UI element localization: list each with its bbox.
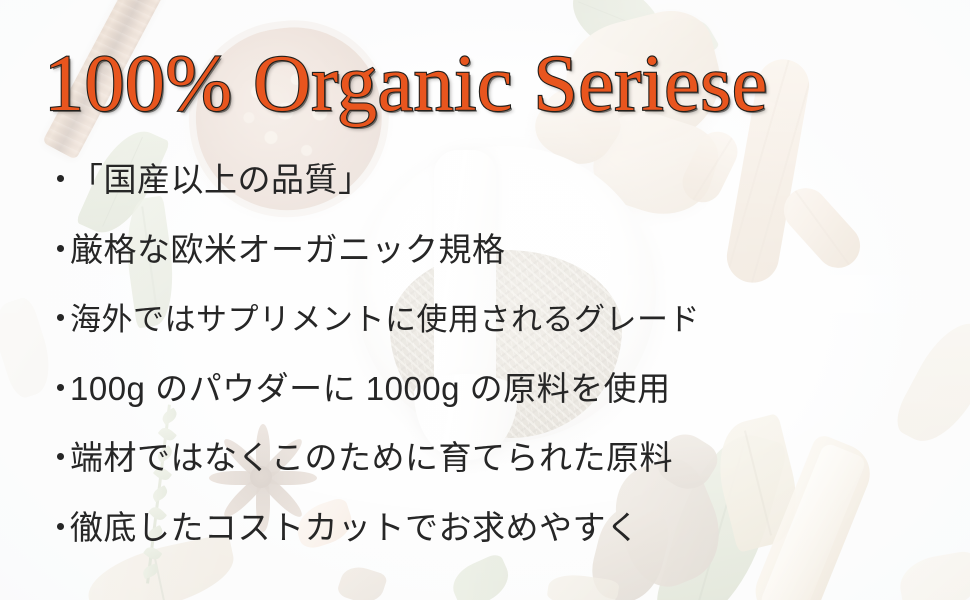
bullet-marker-icon: ・ bbox=[44, 233, 70, 266]
list-item-label: 厳格な欧米オーガニック規格 bbox=[70, 233, 506, 266]
banner-content: 100% Organic Seriese ・ 「国産以上の品質」 ・ 厳格な欧米… bbox=[0, 0, 970, 600]
bullet-marker-icon: ・ bbox=[44, 441, 70, 474]
list-item-label: 海外ではサプリメントに使用されるグレード bbox=[70, 304, 700, 335]
list-item: ・ 100g のパウダーに 1000g の原料を使用 bbox=[44, 372, 954, 442]
page-title: 100% Organic Seriese bbox=[44, 44, 944, 124]
feature-list: ・ 「国産以上の品質」 ・ 厳格な欧米オーガニック規格 ・ 海外ではサプリメント… bbox=[44, 163, 954, 580]
list-item: ・ 端材ではなくこのために育てられた原料 bbox=[44, 441, 954, 511]
organic-series-banner: 100% Organic Seriese ・ 「国産以上の品質」 ・ 厳格な欧米… bbox=[0, 0, 970, 600]
bullet-marker-icon: ・ bbox=[44, 163, 70, 196]
list-item: ・ 「国産以上の品質」 bbox=[44, 163, 954, 233]
bullet-marker-icon: ・ bbox=[44, 302, 70, 335]
list-item-label: 「国産以上の品質」 bbox=[70, 163, 372, 196]
list-item-label: 徹底したコストカットでお求めやすく bbox=[70, 511, 640, 544]
list-item: ・ 海外ではサプリメントに使用されるグレード bbox=[44, 302, 954, 372]
list-item: ・ 徹底したコストカットでお求めやすく bbox=[44, 511, 954, 581]
list-item: ・ 厳格な欧米オーガニック規格 bbox=[44, 233, 954, 303]
list-item-label: 100g のパウダーに 1000g の原料を使用 bbox=[70, 372, 671, 405]
bullet-marker-icon: ・ bbox=[44, 372, 70, 405]
list-item-label: 端材ではなくこのために育てられた原料 bbox=[70, 441, 673, 474]
bullet-marker-icon: ・ bbox=[44, 511, 70, 544]
